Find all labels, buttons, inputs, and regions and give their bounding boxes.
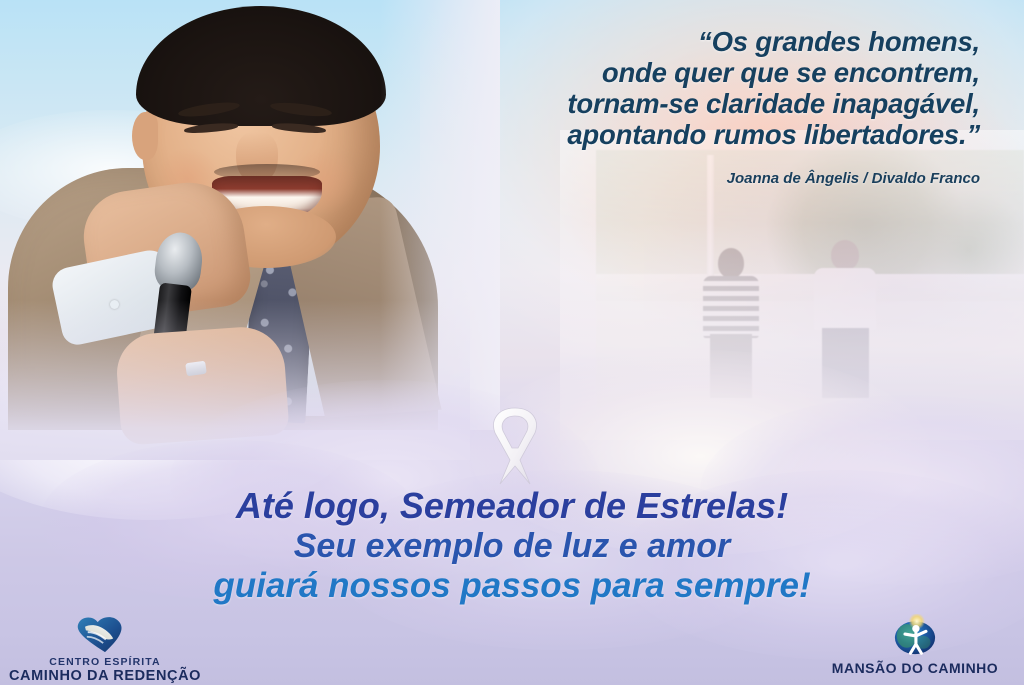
- heart-hands-icon: [0, 614, 210, 654]
- white-mourning-ribbon-icon: [482, 404, 548, 490]
- quote-line-3: tornam-se claridade inapagável,: [380, 88, 980, 119]
- quote-attribution: Joanna de Ângelis / Divaldo Franco: [380, 170, 980, 187]
- globe-figure-icon: [810, 614, 1020, 654]
- centro-espirita-line-2: CAMINHO DA REDENÇÃO: [0, 668, 210, 684]
- quote-line-4: apontando rumos libertadores.”: [380, 119, 980, 150]
- centro-espirita-logo: CENTRO ESPÍRITA CAMINHO DA REDENÇÃO: [0, 614, 210, 684]
- headline-line-2: Seu exemplo de luz e amor: [0, 526, 1024, 566]
- quote-line-2: onde quer que se encontrem,: [380, 57, 980, 88]
- quote-line-1: “Os grandes homens,: [380, 26, 980, 57]
- headline-line-3: guiará nossos passos para sempre!: [0, 566, 1024, 606]
- headline-message: Até logo, Semeador de Estrelas! Seu exem…: [0, 486, 1024, 606]
- mansao-do-caminho-label: MANSÃO DO CAMINHO: [810, 660, 1020, 676]
- centro-espirita-line-1: CENTRO ESPÍRITA: [0, 656, 210, 668]
- mansao-do-caminho-logo: MANSÃO DO CAMINHO: [810, 614, 1020, 676]
- memorial-tribute-poster: “Os grandes homens, onde quer que se enc…: [0, 0, 1024, 685]
- quote-text: “Os grandes homens, onde quer que se enc…: [380, 26, 980, 150]
- headline-line-1: Até logo, Semeador de Estrelas!: [0, 486, 1024, 526]
- portrait-hair: [136, 6, 386, 126]
- portrait-ear: [132, 112, 158, 160]
